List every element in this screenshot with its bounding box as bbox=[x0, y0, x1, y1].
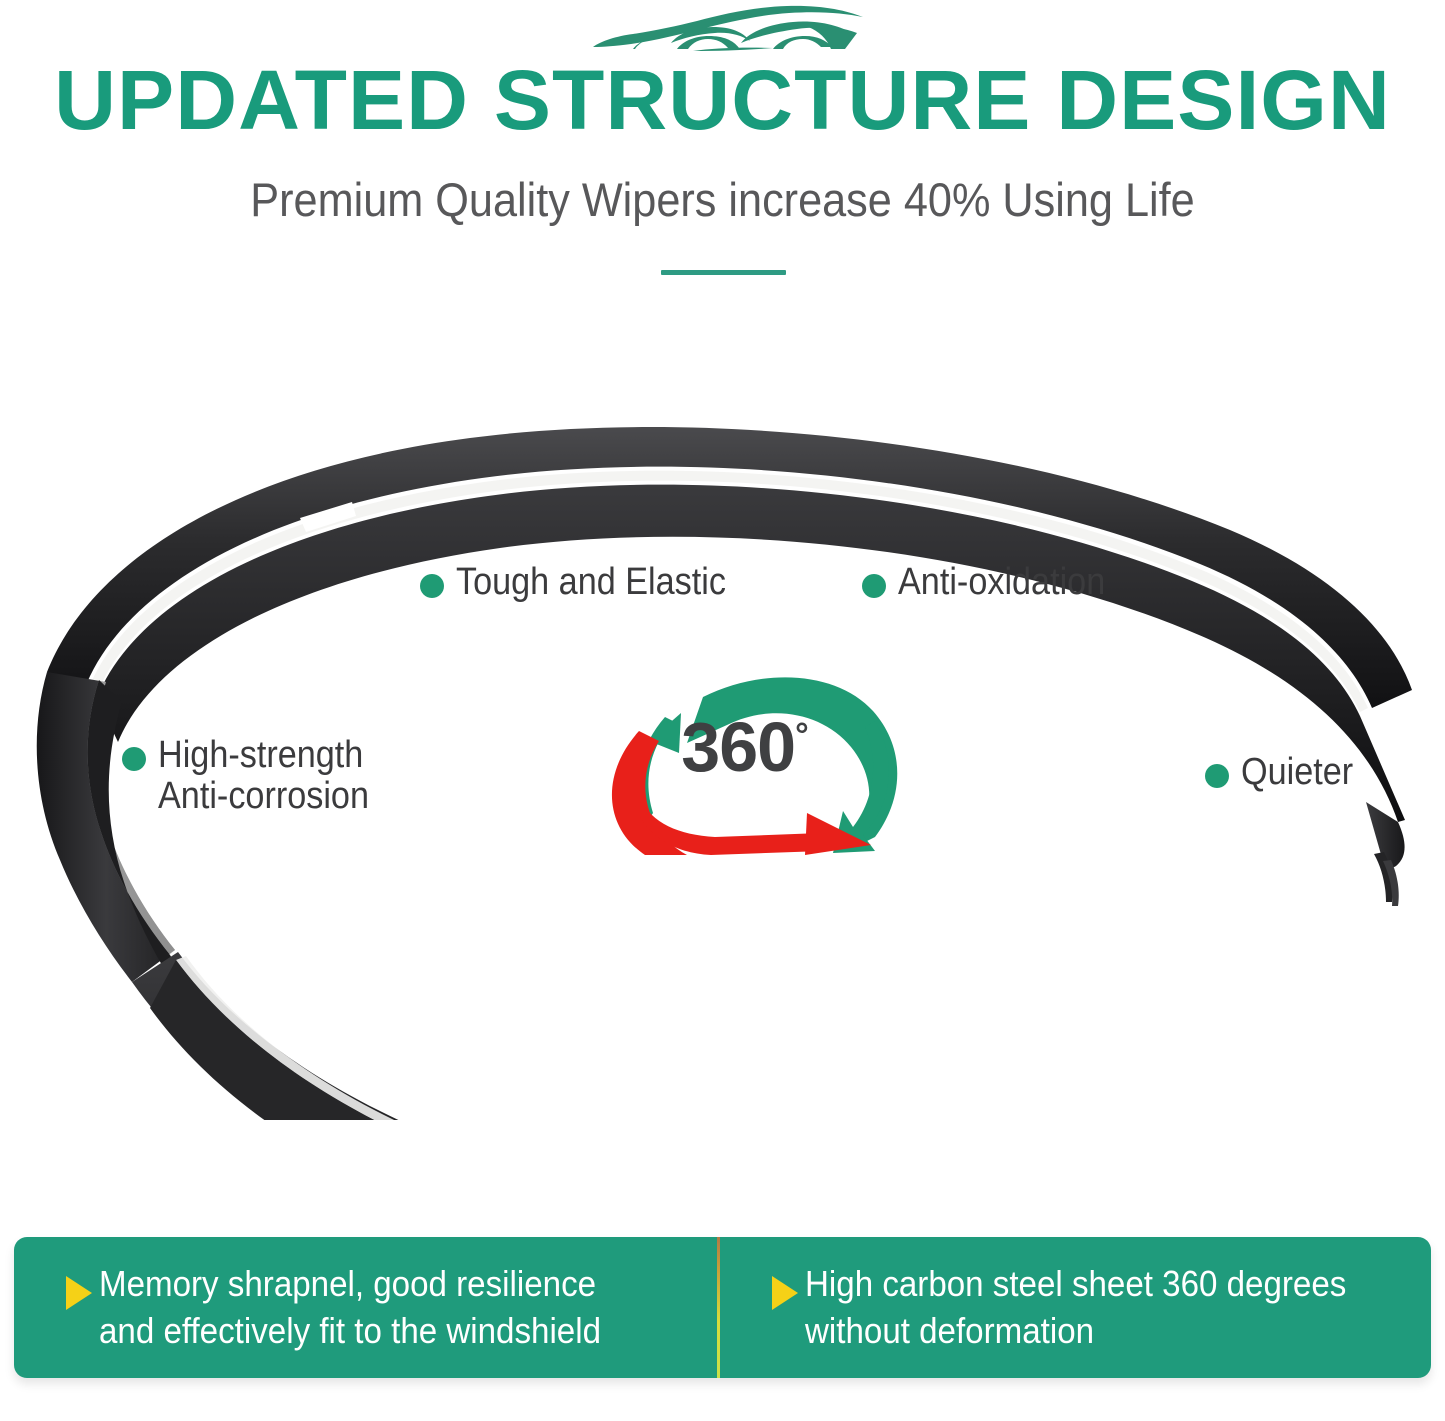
bullet-dot-icon bbox=[122, 747, 146, 771]
page-title: UPDATED STRUCTURE DESIGN bbox=[0, 58, 1445, 142]
badge-value: 360° bbox=[575, 707, 915, 787]
banner-divider bbox=[717, 1237, 720, 1378]
title-divider bbox=[661, 270, 786, 275]
triangle-bullet-icon bbox=[66, 1276, 92, 1310]
banner-item-text: High carbon steel sheet 360 degrees with… bbox=[805, 1261, 1346, 1353]
strip-bottom-inner bbox=[150, 960, 1174, 1120]
feature-label: High-strength Anti-corrosion bbox=[158, 735, 369, 817]
banner-item-high-carbon: High carbon steel sheet 360 degrees with… bbox=[726, 1237, 1432, 1378]
feature-label: Tough and Elastic bbox=[456, 562, 726, 603]
bullet-dot-icon bbox=[420, 574, 444, 598]
banner-item-memory-shrapnel: Memory shrapnel, good resilience and eff… bbox=[14, 1237, 726, 1378]
feature-label: Quieter bbox=[1241, 752, 1353, 793]
infographic-page: UPDATED STRUCTURE DESIGN Premium Quality… bbox=[0, 0, 1445, 1421]
feature-anti-oxidation: Anti-oxidation bbox=[862, 562, 1128, 603]
bullet-dot-icon bbox=[862, 574, 886, 598]
feature-banner: Memory shrapnel, good resilience and eff… bbox=[14, 1237, 1431, 1378]
banner-item-text: Memory shrapnel, good resilience and eff… bbox=[99, 1261, 601, 1353]
bullet-dot-icon bbox=[1205, 764, 1229, 788]
feature-label: Anti-oxidation bbox=[898, 562, 1105, 603]
badge-number: 360 bbox=[681, 708, 795, 786]
feature-high-strength-anti-corrosion: High-strength Anti-corrosion bbox=[122, 735, 392, 817]
triangle-bullet-icon bbox=[772, 1276, 798, 1310]
degree-symbol-icon: ° bbox=[795, 717, 809, 755]
page-subtitle: Premium Quality Wipers increase 40% Usin… bbox=[58, 176, 1387, 223]
feature-tough-and-elastic: Tough and Elastic bbox=[420, 562, 756, 603]
rotation-360-badge: 360° bbox=[575, 655, 915, 855]
feature-quieter: Quieter bbox=[1205, 752, 1366, 793]
